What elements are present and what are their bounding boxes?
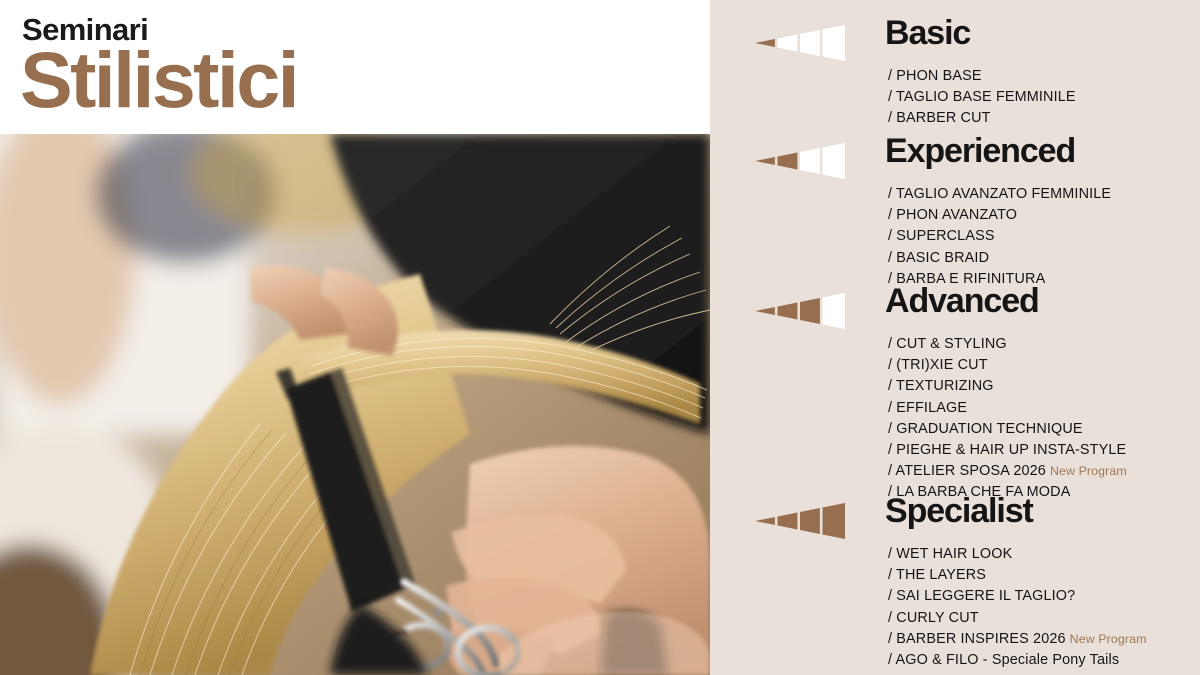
course-label: AGO & FILO - Speciale Pony Tails — [896, 652, 1120, 668]
course-item[interactable]: / ATELIER SPOSA 2026New Program — [888, 461, 1127, 482]
course-list: / WET HAIR LOOK/ THE LAYERS/ SAI LEGGERE… — [888, 544, 1147, 671]
course-item[interactable]: / PHON BASE — [888, 66, 1076, 87]
course-label: (TRI)XIE CUT — [896, 357, 987, 373]
rank-segment — [755, 517, 775, 525]
section-title: Basic — [885, 16, 970, 50]
course-item[interactable]: / TAGLIO BASE FEMMINILE — [888, 87, 1076, 108]
slide-root: Seminari Stilistici Basic/ PHON BASE/ TA… — [0, 0, 1200, 675]
section-title: Experienced — [885, 134, 1075, 168]
rank-segment — [823, 143, 846, 179]
section-header: Basic — [710, 22, 1200, 64]
slash-marker: / — [888, 463, 896, 479]
section-title: Specialist — [885, 494, 1033, 528]
course-label: EFFILAGE — [896, 400, 967, 416]
course-item[interactable]: / (TRI)XIE CUT — [888, 355, 1127, 376]
course-label: ATELIER SPOSA 2026 — [896, 463, 1046, 479]
rank-chevron-icon — [755, 293, 845, 329]
rank-segment — [823, 503, 846, 539]
left-panel: Seminari Stilistici — [0, 0, 710, 675]
rank-segment — [800, 508, 820, 534]
section-header: Specialist — [710, 500, 1200, 542]
course-label: SAI LEGGERE IL TAGLIO? — [896, 588, 1075, 604]
course-item[interactable]: / AGO & FILO - Speciale Pony Tails — [888, 650, 1147, 671]
course-label: BASIC BRAID — [896, 250, 989, 266]
course-label: BARBER CUT — [896, 110, 990, 126]
level-section-specialist[interactable]: Specialist/ WET HAIR LOOK/ THE LAYERS/ S… — [710, 500, 1200, 542]
course-item[interactable]: / WET HAIR LOOK — [888, 544, 1147, 565]
course-item[interactable]: / TEXTURIZING — [888, 376, 1127, 397]
slash-marker: / — [888, 378, 896, 394]
course-levels-sidebar: Basic/ PHON BASE/ TAGLIO BASE FEMMINILE/… — [710, 0, 1200, 675]
course-label: GRADUATION TECHNIQUE — [896, 421, 1082, 437]
course-label: CUT & STYLING — [896, 336, 1006, 352]
rank-segment — [778, 153, 798, 170]
level-section-advanced[interactable]: Advanced/ CUT & STYLING/ (TRI)XIE CUT/ T… — [710, 290, 1200, 332]
course-item[interactable]: / CURLY CUT — [888, 608, 1147, 629]
course-label: TAGLIO AVANZATO FEMMINILE — [896, 186, 1111, 202]
course-label: CURLY CUT — [896, 610, 978, 626]
course-item[interactable]: / BARBER INSPIRES 2026New Program — [888, 629, 1147, 650]
course-list: / TAGLIO AVANZATO FEMMINILE/ PHON AVANZA… — [888, 184, 1111, 290]
rank-segment — [800, 30, 820, 56]
course-item[interactable]: / PHON AVANZATO — [888, 205, 1111, 226]
page-title: Stilistici — [20, 40, 297, 119]
level-section-experienced[interactable]: Experienced/ TAGLIO AVANZATO FEMMINILE/ … — [710, 140, 1200, 182]
rank-segment — [755, 39, 775, 47]
course-item[interactable]: / GRADUATION TECHNIQUE — [888, 419, 1127, 440]
course-item[interactable]: / CUT & STYLING — [888, 334, 1127, 355]
new-program-badge: New Program — [1066, 632, 1147, 646]
rank-segment — [800, 298, 820, 324]
course-item[interactable]: / TAGLIO AVANZATO FEMMINILE — [888, 184, 1111, 205]
slash-marker: / — [888, 652, 896, 668]
rank-segment — [778, 513, 798, 530]
level-section-basic[interactable]: Basic/ PHON BASE/ TAGLIO BASE FEMMINILE/… — [710, 22, 1200, 64]
course-label: TAGLIO BASE FEMMINILE — [896, 89, 1076, 105]
course-item[interactable]: / BASIC BRAID — [888, 248, 1111, 269]
course-label: PHON BASE — [896, 68, 981, 84]
slash-marker: / — [888, 186, 896, 202]
rank-segment — [755, 157, 775, 165]
rank-segment — [778, 35, 798, 52]
photo-artwork — [0, 134, 710, 675]
section-title: Advanced — [885, 284, 1039, 318]
hairdressing-photo — [0, 134, 710, 675]
rank-segment — [778, 303, 798, 320]
course-list: / PHON BASE/ TAGLIO BASE FEMMINILE/ BARB… — [888, 66, 1076, 130]
slash-marker: / — [888, 567, 896, 583]
course-item[interactable]: / EFFILAGE — [888, 398, 1127, 419]
new-program-badge: New Program — [1046, 464, 1127, 478]
rank-chevron-icon — [755, 143, 845, 179]
rank-chevron-icon — [755, 503, 845, 539]
course-label: WET HAIR LOOK — [896, 546, 1012, 562]
rank-segment — [823, 293, 846, 329]
course-label: PIEGHE & HAIR UP INSTA-STYLE — [896, 442, 1126, 458]
title-card: Seminari Stilistici — [0, 0, 710, 134]
course-label: SUPERCLASS — [896, 228, 994, 244]
course-item[interactable]: / THE LAYERS — [888, 565, 1147, 586]
rank-segment — [800, 148, 820, 174]
course-item[interactable]: / PIEGHE & HAIR UP INSTA-STYLE — [888, 440, 1127, 461]
section-header: Experienced — [710, 140, 1200, 182]
rank-segment — [823, 25, 846, 61]
course-label: TEXTURIZING — [896, 378, 994, 394]
section-header: Advanced — [710, 290, 1200, 332]
course-item[interactable]: / BARBER CUT — [888, 108, 1076, 129]
rank-chevron-icon — [755, 25, 845, 61]
course-label: PHON AVANZATO — [896, 207, 1017, 223]
course-item[interactable]: / SAI LEGGERE IL TAGLIO? — [888, 586, 1147, 607]
course-item[interactable]: / SUPERCLASS — [888, 226, 1111, 247]
course-label: THE LAYERS — [896, 567, 986, 583]
course-list: / CUT & STYLING/ (TRI)XIE CUT/ TEXTURIZI… — [888, 334, 1127, 504]
course-label: BARBER INSPIRES 2026 — [896, 631, 1065, 647]
rank-segment — [755, 307, 775, 315]
slash-marker: / — [888, 89, 896, 105]
